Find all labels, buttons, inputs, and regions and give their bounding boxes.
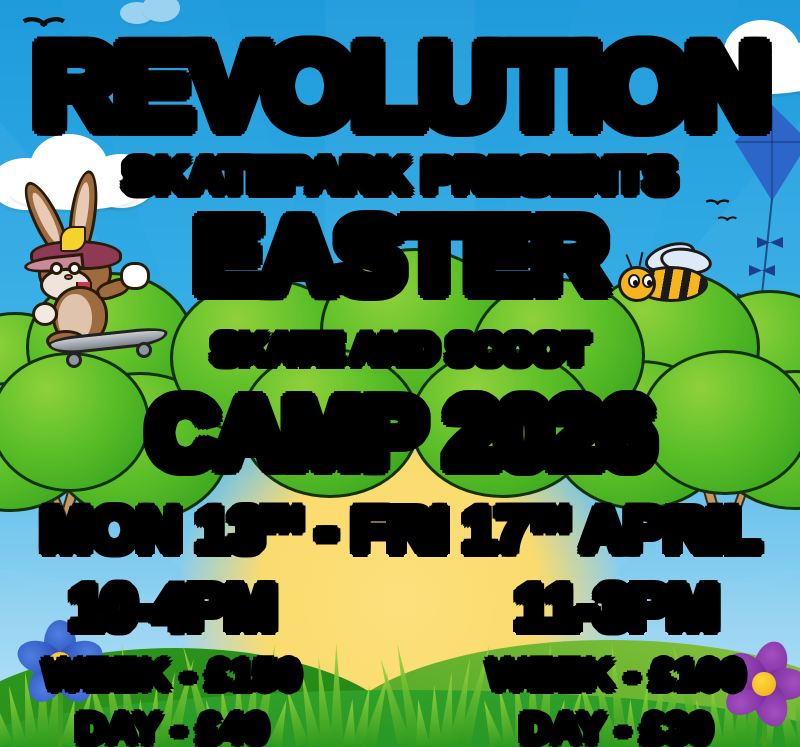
right-day-price-text: DAY - £30	[520, 708, 711, 747]
subbrand-title-text: SKATEPARK PRESENTS	[124, 152, 676, 199]
right-week-price: WEEK - £100	[466, 654, 766, 696]
camp-title: CAMP 2026	[0, 386, 800, 482]
right-session-time-text: 11-3PM	[515, 578, 717, 640]
left-day-price-text: DAY - £40	[76, 708, 267, 747]
right-day-price: DAY - £30	[466, 708, 766, 747]
easter-camp-poster: REVOLUTION SKATEPARK PRESENTS EASTER SKA…	[0, 0, 800, 747]
left-session-time-text: 10-4PM	[69, 578, 274, 640]
camp-dates-text: MON 13TH - FRI 17TH APRIL	[41, 500, 759, 561]
price-column-right: 11-3PM WEEK - £100 DAY - £30	[466, 578, 766, 747]
event-title-text: EASTER	[194, 204, 606, 307]
price-column-left: 10-4PM WEEK - £150 DAY - £40	[22, 578, 322, 747]
camp-title-text: CAMP 2026	[148, 386, 651, 482]
tagline-text: SKATE AND SCOOT	[213, 330, 588, 370]
left-week-price-text: WEEK - £150	[44, 654, 301, 696]
brand-title: REVOLUTION	[0, 28, 800, 146]
brand-title-text: REVOLUTION	[33, 28, 767, 146]
right-week-price-text: WEEK - £100	[488, 654, 745, 696]
left-session-time: 10-4PM	[22, 578, 322, 640]
subbrand-title: SKATEPARK PRESENTS	[0, 152, 800, 199]
camp-dates: MON 13TH - FRI 17TH APRIL	[0, 500, 800, 561]
event-title: EASTER	[0, 204, 800, 307]
left-week-price: WEEK - £150	[22, 654, 322, 696]
poster-text: REVOLUTION SKATEPARK PRESENTS EASTER SKA…	[0, 0, 800, 747]
left-day-price: DAY - £40	[22, 708, 322, 747]
tagline: SKATE AND SCOOT	[0, 330, 800, 370]
right-session-time: 11-3PM	[466, 578, 766, 640]
